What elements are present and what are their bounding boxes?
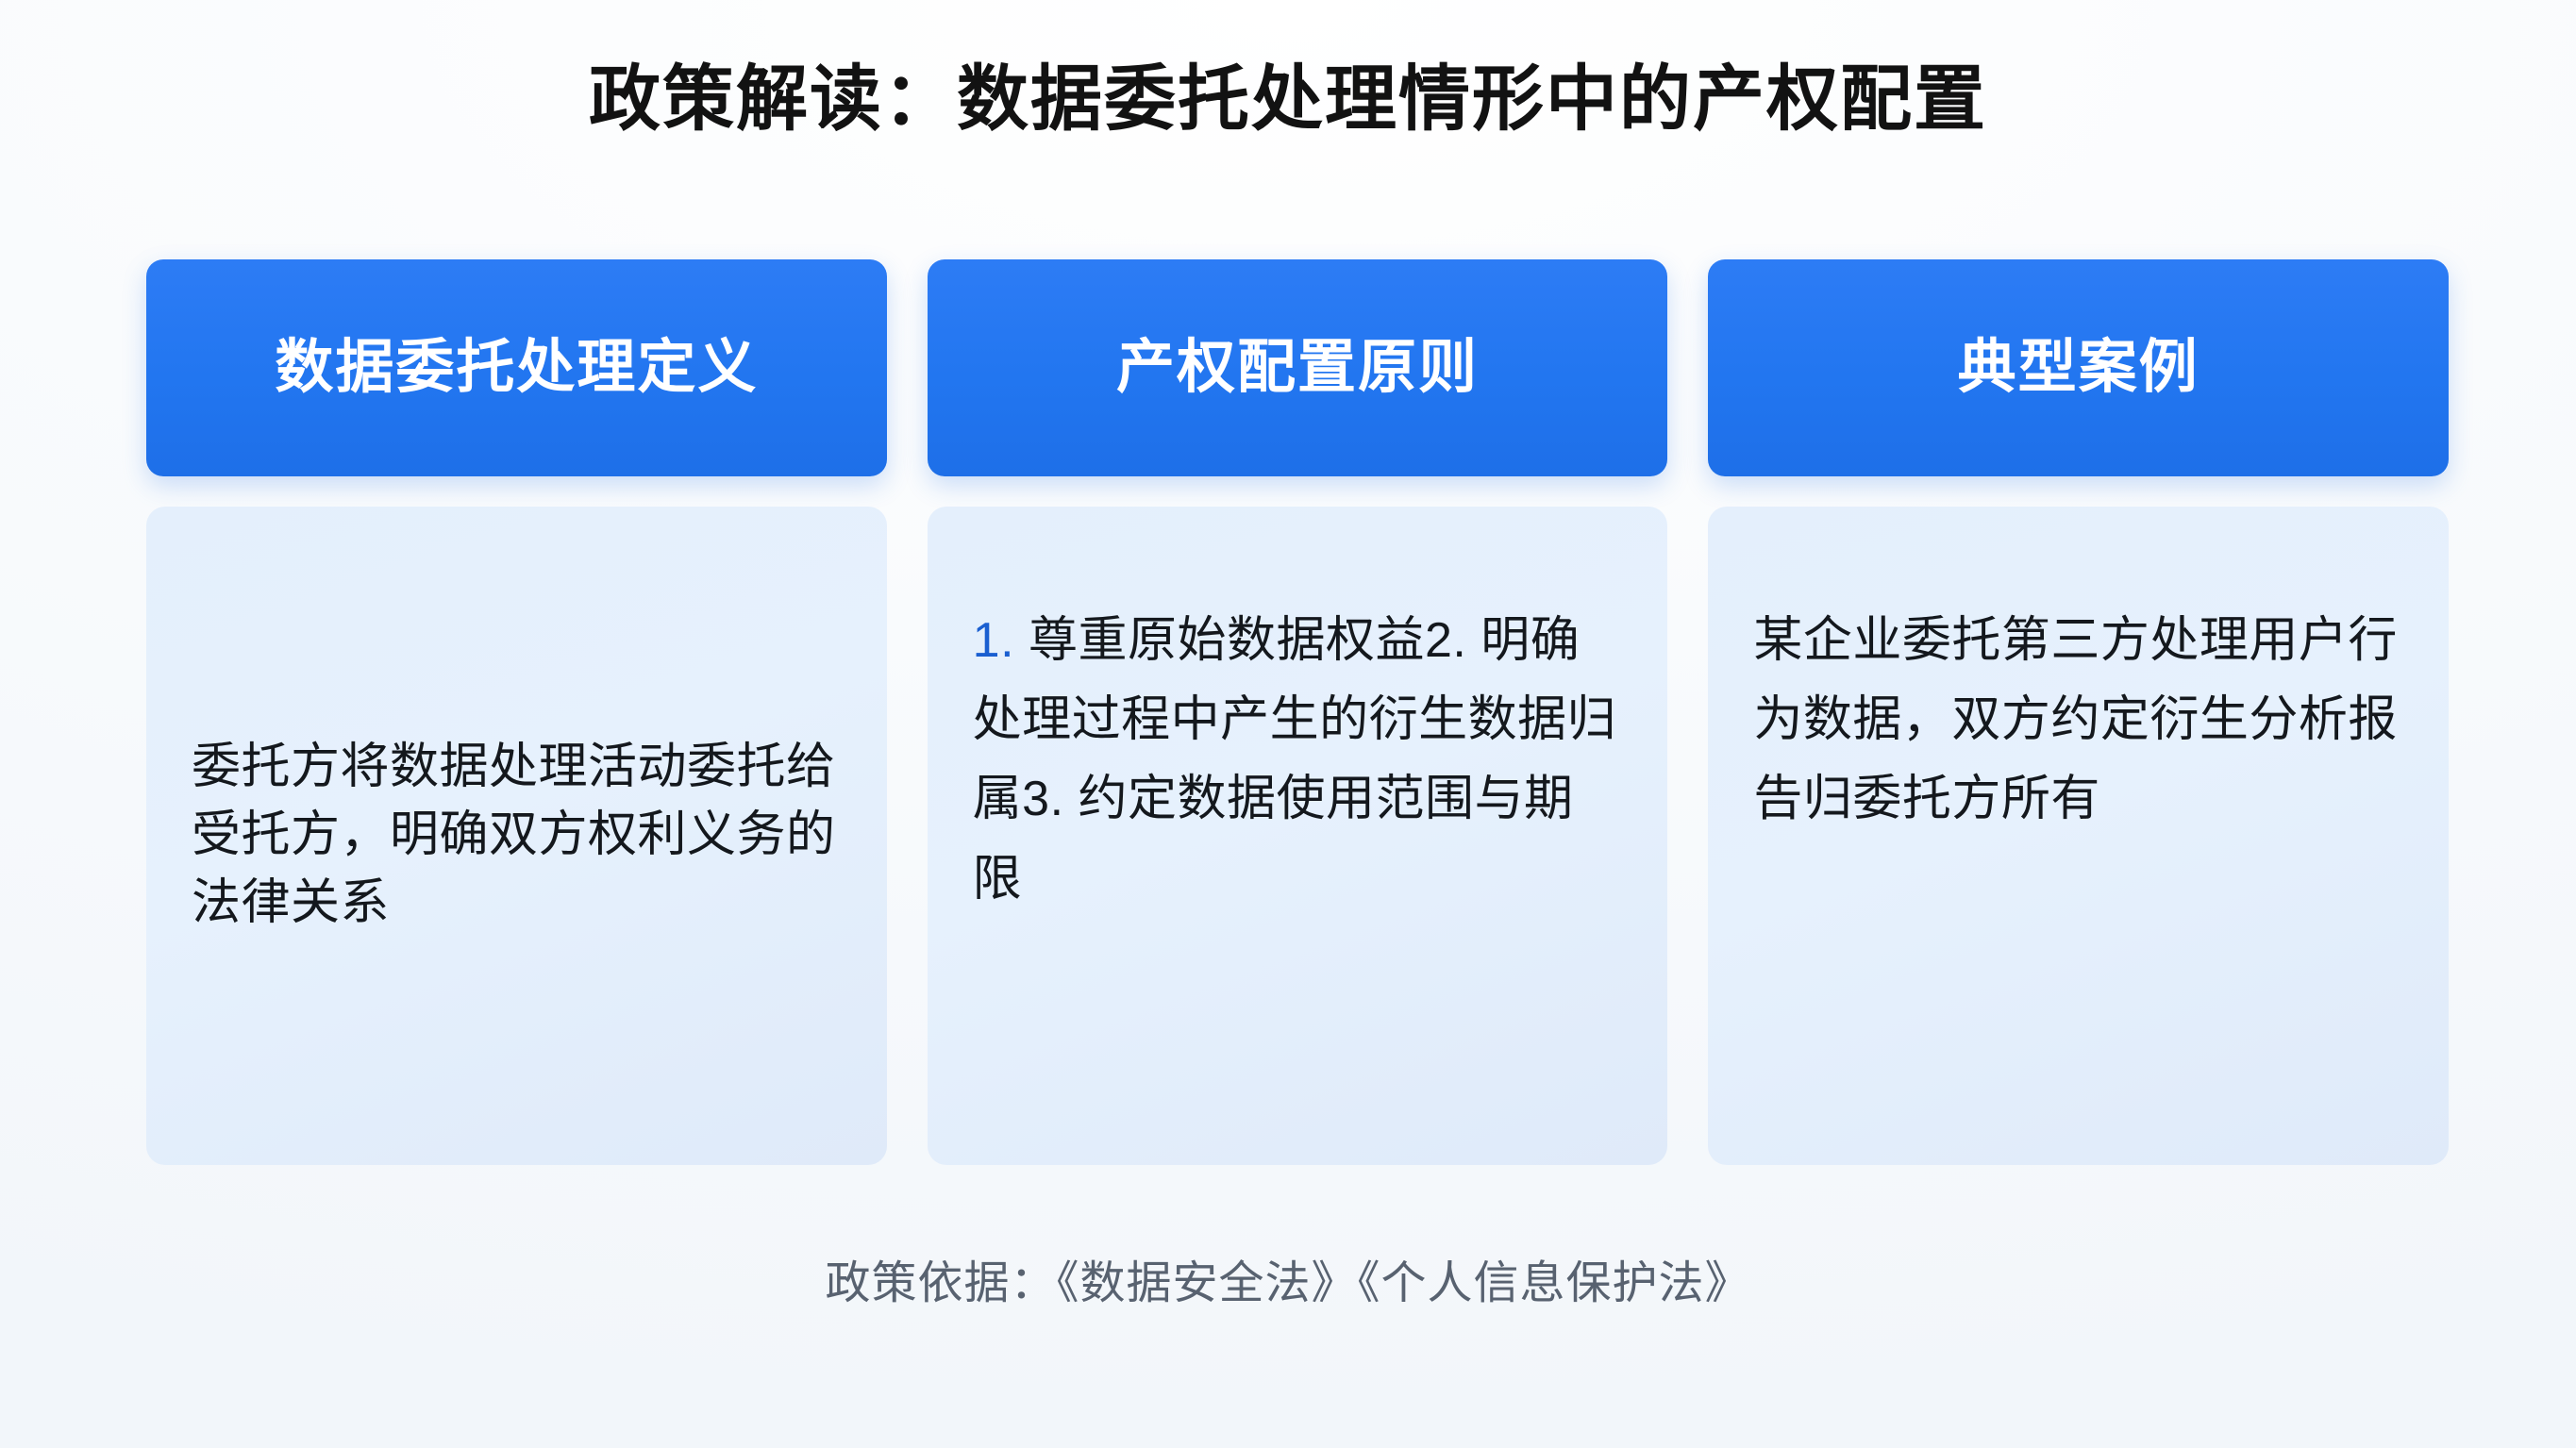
card-header-label-3: 典型案例 xyxy=(1958,333,2200,403)
card-grid: 数据委托处理定义 委托方将数据处理活动委托给受托方，明确双方权利义务的法律关系 … xyxy=(146,259,2449,1165)
card-header-3[interactable]: 典型案例 xyxy=(1708,259,2449,476)
card-column-3: 典型案例 某企业委托第三方处理用户行为数据，双方约定衍生分析报告归委托方所有 xyxy=(1708,259,2449,1165)
card-header-label-2: 产权配置原则 xyxy=(1116,333,1479,403)
card-header-label-1: 数据委托处理定义 xyxy=(275,333,758,403)
card-body-paragraph-2: 1. 尊重原始数据权益2. 明确处理过程中产生的衍生数据归属3. 约定数据使用范… xyxy=(973,601,1623,919)
card-body-paragraph-1: 委托方将数据处理活动委托给受托方，明确双方权利义务的法律关系 xyxy=(192,734,842,937)
card-body-paragraph-3: 某企业委托第三方处理用户行为数据，双方约定衍生分析报告归委托方所有 xyxy=(1753,601,2403,840)
page-title: 政策解读：数据委托处理情形中的产权配置 xyxy=(0,57,2576,142)
card-column-1: 数据委托处理定义 委托方将数据处理活动委托给受托方，明确双方权利义务的法律关系 xyxy=(146,259,887,1165)
slide-canvas: 政策解读：数据委托处理情形中的产权配置 数据委托处理定义 委托方将数据处理活动委… xyxy=(0,0,2576,1448)
card-body-text-3: 某企业委托第三方处理用户行为数据，双方约定衍生分析报告归委托方所有 xyxy=(1753,613,2398,826)
card-body-3: 某企业委托第三方处理用户行为数据，双方约定衍生分析报告归委托方所有 xyxy=(1708,507,2449,1165)
policy-basis-note: 政策依据：《数据安全法》《个人信息保护法》 xyxy=(0,1255,2576,1313)
card-body-2: 1. 尊重原始数据权益2. 明确处理过程中产生的衍生数据归属3. 约定数据使用范… xyxy=(928,507,1668,1165)
card-header-1[interactable]: 数据委托处理定义 xyxy=(146,259,887,476)
card-body-text-2: 尊重原始数据权益2. 明确处理过程中产生的衍生数据归属3. 约定数据使用范围与期… xyxy=(973,613,1617,907)
card-body-text-1: 委托方将数据处理活动委托给受托方，明确双方权利义务的法律关系 xyxy=(192,740,836,930)
card-body-1: 委托方将数据处理活动委托给受托方，明确双方权利义务的法律关系 xyxy=(146,507,887,1165)
card-header-2[interactable]: 产权配置原则 xyxy=(928,259,1668,476)
card-column-2: 产权配置原则 1. 尊重原始数据权益2. 明确处理过程中产生的衍生数据归属3. … xyxy=(928,259,1668,1165)
card-body-marker-2: 1. xyxy=(973,613,1014,668)
